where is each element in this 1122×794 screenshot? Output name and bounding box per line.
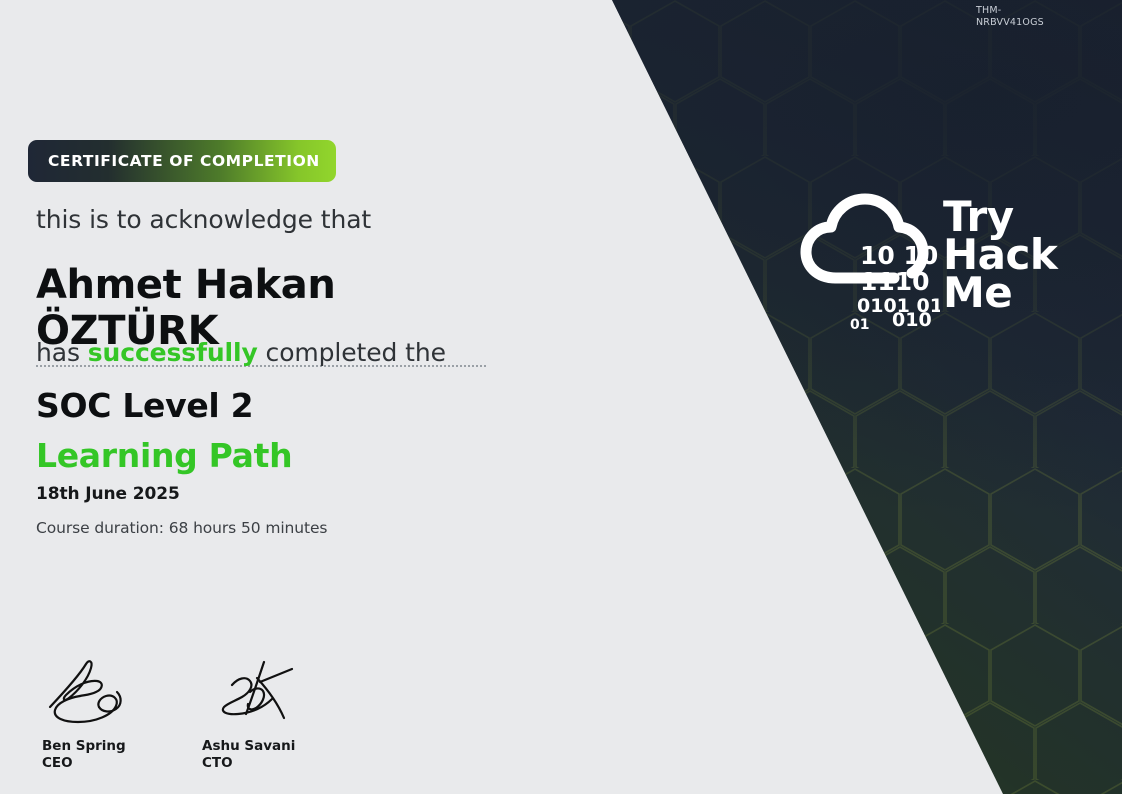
binary-row-5: 010 bbox=[892, 309, 932, 331]
course-duration: Course duration: 68 hours 50 minutes bbox=[36, 519, 327, 537]
logo-word-me: Me bbox=[943, 274, 1057, 312]
certificate-badge: CERTIFICATE OF COMPLETION bbox=[28, 140, 336, 182]
completion-text: has successfully completed the bbox=[36, 338, 446, 367]
course-title: SOC Level 2 Learning Path bbox=[36, 381, 292, 481]
certificate-code: THM- NRBVV41OGS bbox=[976, 5, 1086, 28]
signature-ceo-icon bbox=[42, 652, 152, 730]
cloud-icon: 10 10 1110 0101 01 01 010 01 bbox=[800, 186, 940, 331]
signature-cto-icon bbox=[202, 652, 312, 730]
course-title-line-1: SOC Level 2 bbox=[36, 381, 292, 431]
signature-block-ceo: Ben Spring CEO bbox=[42, 652, 222, 777]
binary-row-1: 10 10 bbox=[860, 241, 938, 270]
signature-ceo-name: Ben Spring CEO bbox=[42, 738, 126, 772]
course-title-line-2: Learning Path bbox=[36, 431, 292, 481]
completion-prefix: has bbox=[36, 338, 88, 367]
certificate-content: CERTIFICATE OF COMPLETION this is to ack… bbox=[36, 0, 596, 794]
certificate-page: THM- NRBVV41OGS 10 10 1110 0101 01 01 01… bbox=[0, 0, 1122, 794]
signature-block-cto: Ashu Savani CTO bbox=[202, 652, 382, 777]
binary-row-4: 01 bbox=[850, 317, 869, 331]
tryhackme-logo: 10 10 1110 0101 01 01 010 01 Try Hack Me bbox=[800, 186, 1075, 331]
binary-row-2: 1110 bbox=[860, 267, 930, 296]
completion-suffix: completed the bbox=[258, 338, 446, 367]
tryhackme-wordmark: Try Hack Me bbox=[943, 198, 1057, 312]
signature-cto-name: Ashu Savani CTO bbox=[202, 738, 295, 772]
completion-date: 18th June 2025 bbox=[36, 484, 180, 504]
completion-highlight: successfully bbox=[88, 338, 258, 367]
acknowledgement-text: this is to acknowledge that bbox=[36, 205, 371, 234]
signatures-row: Ben Spring CEO Ashu Savani CTO bbox=[36, 652, 456, 777]
